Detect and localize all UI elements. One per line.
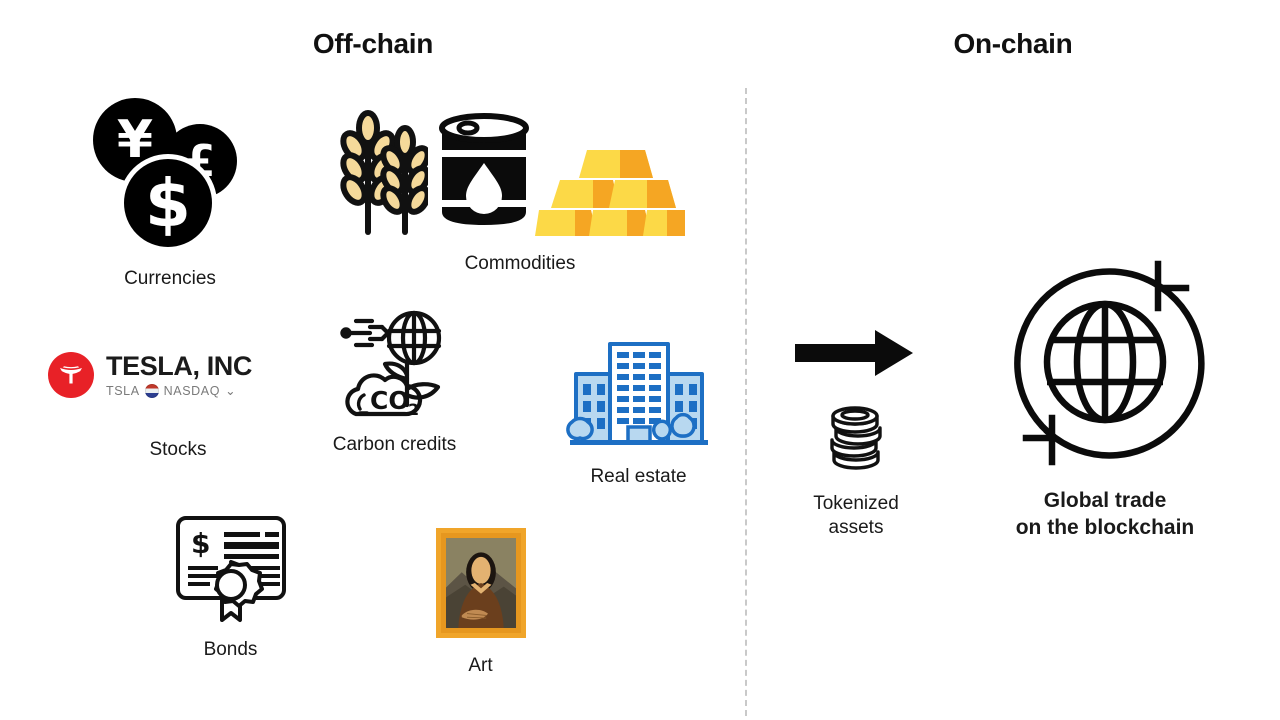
node-currencies[interactable]: ¥ £ $ Currencies xyxy=(85,98,255,291)
page-title-offchain: Off-chain xyxy=(0,28,746,60)
node-global-trade[interactable]: Global trade on the blockchain xyxy=(975,252,1235,542)
section-divider xyxy=(745,88,747,716)
tesla-exchange: NASDAQ xyxy=(164,384,220,398)
svg-text:$: $ xyxy=(191,527,210,560)
node-stocks[interactable]: TESLA, INC TSLA NASDAQ ⌄ Stocks xyxy=(48,352,308,463)
tesla-logo-icon xyxy=(48,352,94,398)
label-stocks: Stocks xyxy=(48,438,308,462)
label-tokenized-line1: Tokenized xyxy=(776,492,936,516)
us-flag-icon xyxy=(145,384,159,398)
coins-currency-icon: ¥ £ $ xyxy=(85,98,255,253)
label-global-trade-line1: Global trade xyxy=(975,488,1235,515)
certificate-icon: $ xyxy=(166,508,296,628)
coin-stack-icon xyxy=(816,398,896,480)
node-carbon-credits[interactable]: CO 2 Carbon credits xyxy=(312,305,477,457)
oil-barrel-icon xyxy=(434,108,534,233)
label-commodities: Commodities xyxy=(330,252,710,276)
right-arrow-icon xyxy=(795,330,913,380)
commodities-icon xyxy=(330,100,710,240)
label-tokenized-line2: assets xyxy=(776,516,936,540)
mona-lisa-image xyxy=(446,538,516,628)
label-currencies: Currencies xyxy=(85,267,255,291)
co2-label: CO xyxy=(370,386,410,415)
node-real-estate[interactable]: Real estate xyxy=(556,332,721,489)
node-commodities[interactable]: Commodities xyxy=(330,100,710,240)
node-bonds[interactable]: $ Bonds xyxy=(148,508,313,662)
label-art: Art xyxy=(398,654,563,678)
framed-painting-icon xyxy=(436,528,526,638)
tesla-ticker: TSLA xyxy=(106,384,140,398)
label-global-trade-line2: on the blockchain xyxy=(975,515,1235,542)
tesla-company-name: TESLA, INC xyxy=(106,352,252,380)
globe-cycle-icon xyxy=(1000,252,1210,474)
tesla-ticker-row: TSLA NASDAQ ⌄ xyxy=(106,383,252,398)
coin-dollar-icon: $ xyxy=(119,154,217,252)
node-tokenized-assets[interactable]: Tokenized assets xyxy=(776,398,936,541)
carbon-credits-icon: CO 2 xyxy=(330,305,460,425)
co2-subscript: 2 xyxy=(408,400,419,419)
node-art[interactable]: Art xyxy=(398,528,563,678)
tesla-stock-icon: TESLA, INC TSLA NASDAQ ⌄ xyxy=(48,352,308,398)
diagram-canvas: Off-chain On-chain ¥ £ $ Currencies xyxy=(0,0,1280,720)
wheat-icon xyxy=(338,110,428,235)
label-carbon-credits: Carbon credits xyxy=(312,433,477,457)
buildings-icon xyxy=(564,332,714,457)
page-title-onchain: On-chain xyxy=(746,28,1280,60)
chevron-down-icon[interactable]: ⌄ xyxy=(225,383,236,398)
gold-bars-icon xyxy=(535,148,685,238)
label-bonds: Bonds xyxy=(148,638,313,662)
label-real-estate: Real estate xyxy=(556,465,721,489)
flow-arrow xyxy=(795,330,913,385)
